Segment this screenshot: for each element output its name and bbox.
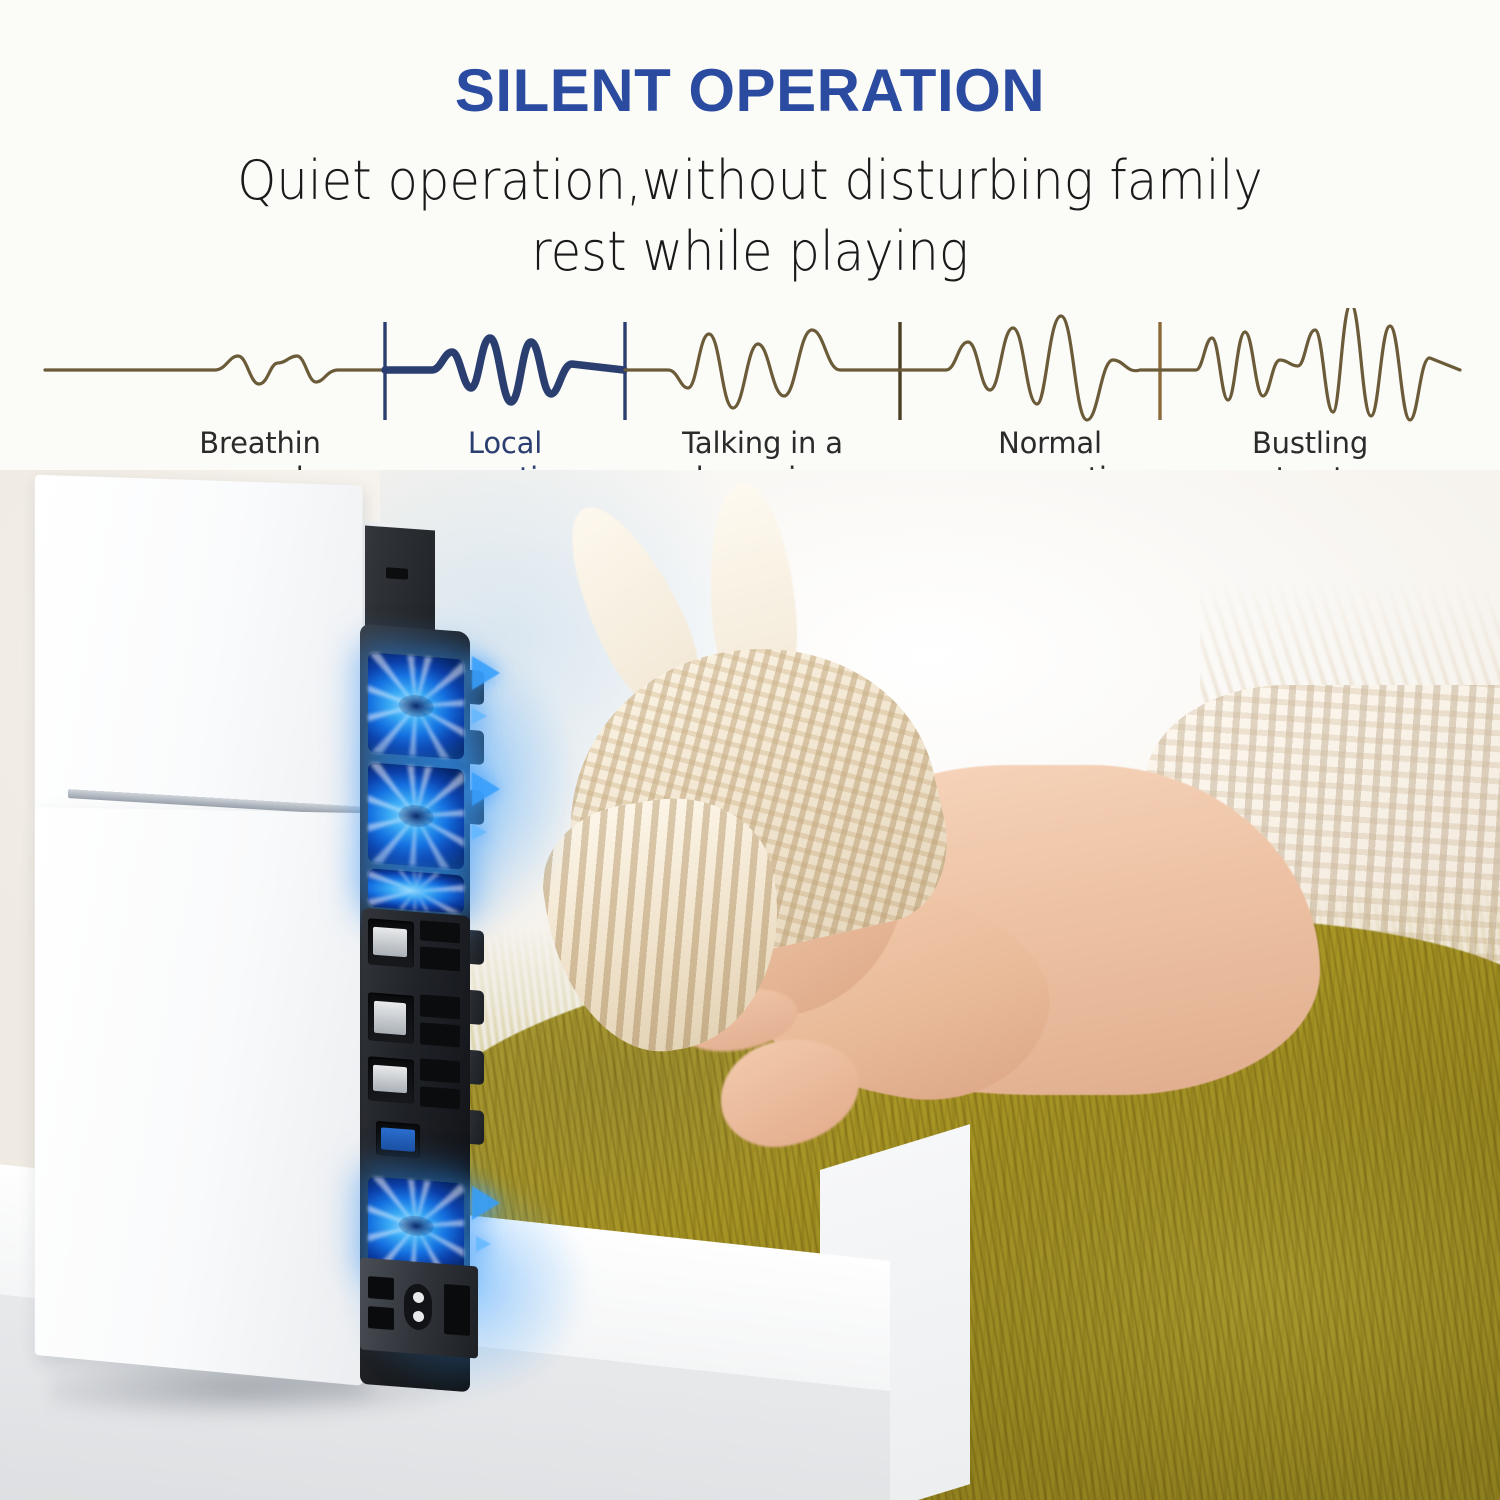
airflow-arrow-icon: [472, 656, 500, 690]
airflow-arrow-icon: [472, 708, 487, 724]
usb3-port-contact: [381, 1127, 415, 1152]
console-faceplate-top: [35, 475, 363, 834]
page-subtitle: Quiet operation,without disturbing famil…: [60, 145, 1440, 288]
console-rear-notch: [386, 567, 408, 580]
airflow-arrow-icon: [472, 824, 487, 840]
waveform-path-low-voice: [625, 330, 900, 408]
airflow-arrow-icon: [472, 772, 500, 806]
waveform-path-bustling-streets: [1160, 308, 1460, 420]
stand-vent: [420, 1086, 460, 1109]
subtitle-line-2: rest while playing: [60, 216, 1440, 287]
stand-port-block: [362, 908, 470, 1174]
waveform-path-normal-conversation: [900, 316, 1160, 420]
rear-vent: [368, 1276, 394, 1300]
ps5-console: [20, 480, 520, 1420]
airflow-arrow-icon: [472, 1186, 500, 1220]
console-faceplate-bottom: [35, 807, 363, 1386]
cooling-fan-3: [368, 868, 464, 913]
waveform-svg: [0, 308, 1500, 428]
product-lifestyle-photo: [0, 470, 1500, 1500]
rear-vent: [368, 1306, 394, 1330]
hdmi-port-contact: [373, 927, 407, 958]
cooling-fan-2: [368, 762, 464, 869]
power-io-block: [360, 1257, 478, 1358]
aux-port-contact: [373, 1065, 407, 1094]
waveform-path-breathing: [45, 356, 384, 384]
sleeping-baby: [560, 590, 1460, 1210]
cooling-fan-1: [368, 652, 464, 759]
power-socket[interactable]: [404, 1283, 432, 1331]
stand-vent: [420, 1022, 460, 1047]
rear-vent: [444, 1284, 470, 1336]
stand-vent: [420, 994, 460, 1019]
waveform-path-local-operation: [385, 338, 624, 402]
airflow-arrow-icon: [476, 1236, 491, 1252]
ethernet-port-contact: [374, 1001, 406, 1035]
stand-vent: [420, 920, 460, 943]
stand-vent: [420, 946, 460, 971]
fan-blades-icon: [368, 868, 464, 913]
subtitle-line-1: Quiet operation,without disturbing famil…: [60, 145, 1440, 216]
stand-vent: [420, 1058, 460, 1083]
page-title: SILENT OPERATION: [0, 56, 1500, 125]
